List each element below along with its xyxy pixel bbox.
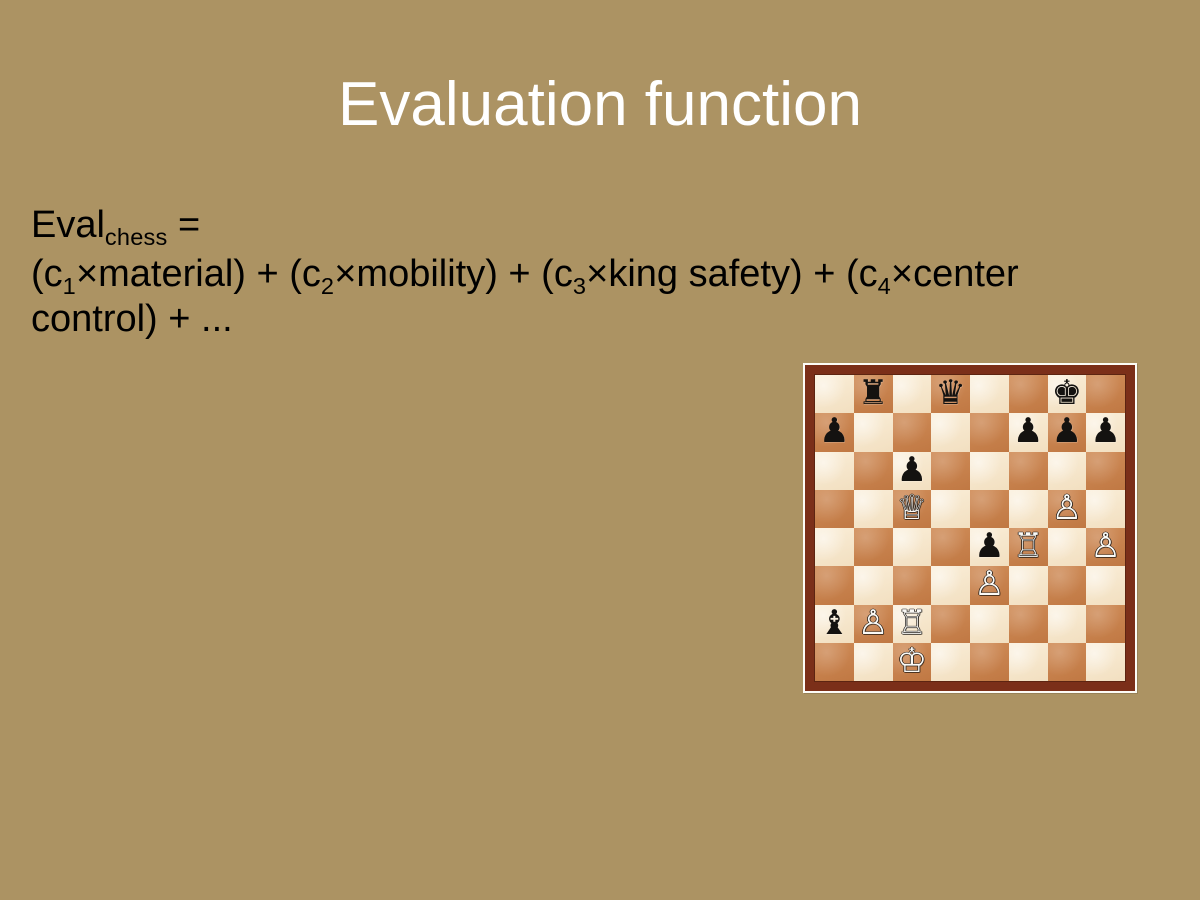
board-square-b4[interactable]	[854, 528, 893, 566]
board-square-e3[interactable]: ♙	[970, 566, 1009, 604]
board-square-h4[interactable]: ♙	[1086, 528, 1125, 566]
board-wood-frame: ♜♛♚♟♟♟♟♟♕♙♟♖♙♙♝♙♖♔	[805, 365, 1135, 691]
board-square-c5[interactable]: ♕	[893, 490, 932, 528]
chess-piece-h7[interactable]: ♟	[1090, 414, 1120, 448]
page-title: Evaluation function	[0, 72, 1200, 138]
board-square-d1[interactable]	[931, 643, 970, 681]
formula-line-terms: (c1×material) + (c2×mobility) + (c3×king…	[31, 252, 1096, 342]
board-square-b5[interactable]	[854, 490, 893, 528]
term1-open: (c	[31, 253, 63, 295]
board-square-g8[interactable]: ♚	[1048, 375, 1087, 413]
board-square-h1[interactable]	[1086, 643, 1125, 681]
board-square-d8[interactable]: ♛	[931, 375, 970, 413]
board-square-e1[interactable]	[970, 643, 1009, 681]
board-square-a3[interactable]	[815, 566, 854, 604]
chess-position-image: ♜♛♚♟♟♟♟♟♕♙♟♖♙♙♝♙♖♔	[803, 363, 1137, 693]
eval-prefix: Eval	[31, 204, 105, 246]
board-square-b7[interactable]	[854, 413, 893, 451]
board-square-a4[interactable]	[815, 528, 854, 566]
board-square-e5[interactable]	[970, 490, 1009, 528]
term3-close: ×king safety) + (c	[586, 253, 877, 295]
board-square-d7[interactable]	[931, 413, 970, 451]
board-square-f8[interactable]	[1009, 375, 1048, 413]
coefficient-4-subscript: 4	[878, 273, 891, 299]
chess-piece-a7[interactable]: ♟	[819, 414, 849, 448]
board-square-g4[interactable]	[1048, 528, 1087, 566]
board-square-b6[interactable]	[854, 452, 893, 490]
board-outer-border: ♜♛♚♟♟♟♟♟♕♙♟♖♙♙♝♙♖♔	[803, 363, 1137, 693]
board-square-g1[interactable]	[1048, 643, 1087, 681]
board-square-h5[interactable]	[1086, 490, 1125, 528]
board-square-d4[interactable]	[931, 528, 970, 566]
chess-board-grid: ♜♛♚♟♟♟♟♟♕♙♟♖♙♙♝♙♖♔	[815, 375, 1125, 681]
board-square-e2[interactable]	[970, 605, 1009, 643]
board-square-g7[interactable]: ♟	[1048, 413, 1087, 451]
board-square-h6[interactable]	[1086, 452, 1125, 490]
chess-piece-c6[interactable]: ♟	[897, 453, 927, 487]
board-square-g6[interactable]	[1048, 452, 1087, 490]
board-square-d2[interactable]	[931, 605, 970, 643]
body-content: Evalchess = (c1×material) + (c2×mobility…	[31, 203, 1096, 345]
board-square-d3[interactable]	[931, 566, 970, 604]
chess-piece-e4[interactable]: ♟	[974, 529, 1004, 563]
board-square-c6[interactable]: ♟	[893, 452, 932, 490]
board-square-f1[interactable]	[1009, 643, 1048, 681]
board-square-c8[interactable]	[893, 375, 932, 413]
board-square-f5[interactable]	[1009, 490, 1048, 528]
chess-piece-f4[interactable]: ♖	[1013, 529, 1043, 563]
board-square-g2[interactable]	[1048, 605, 1087, 643]
board-square-f3[interactable]	[1009, 566, 1048, 604]
term2-close: ×mobility) + (c	[334, 253, 573, 295]
chess-piece-e3[interactable]: ♙	[974, 567, 1004, 601]
formula-line-eval: Evalchess =	[31, 203, 1096, 248]
board-square-e8[interactable]	[970, 375, 1009, 413]
board-square-e6[interactable]	[970, 452, 1009, 490]
board-square-c2[interactable]: ♖	[893, 605, 932, 643]
chess-piece-a2[interactable]: ♝	[819, 606, 849, 640]
coefficient-2-subscript: 2	[321, 273, 334, 299]
board-square-a8[interactable]	[815, 375, 854, 413]
coefficient-3-subscript: 3	[573, 273, 586, 299]
chess-piece-g8[interactable]: ♚	[1052, 376, 1082, 410]
eval-equals: =	[167, 204, 200, 246]
board-square-b1[interactable]	[854, 643, 893, 681]
board-square-a1[interactable]	[815, 643, 854, 681]
chess-piece-c1[interactable]: ♔	[897, 644, 927, 678]
chess-piece-c2[interactable]: ♖	[897, 606, 927, 640]
board-square-e7[interactable]	[970, 413, 1009, 451]
coefficient-1-subscript: 1	[63, 273, 76, 299]
board-square-h2[interactable]	[1086, 605, 1125, 643]
board-square-h3[interactable]	[1086, 566, 1125, 604]
board-square-d5[interactable]	[931, 490, 970, 528]
chess-piece-b2[interactable]: ♙	[858, 606, 888, 640]
eval-subscript: chess	[105, 224, 168, 250]
board-square-a5[interactable]	[815, 490, 854, 528]
board-square-g3[interactable]	[1048, 566, 1087, 604]
chess-piece-d8[interactable]: ♛	[935, 376, 965, 410]
board-square-f6[interactable]	[1009, 452, 1048, 490]
board-square-f7[interactable]: ♟	[1009, 413, 1048, 451]
chess-piece-g5[interactable]: ♙	[1052, 491, 1082, 525]
board-square-f4[interactable]: ♖	[1009, 528, 1048, 566]
board-square-a6[interactable]	[815, 452, 854, 490]
presentation-slide: Evaluation function Evalchess = (c1×mate…	[0, 0, 1200, 900]
board-square-f2[interactable]	[1009, 605, 1048, 643]
board-square-c3[interactable]	[893, 566, 932, 604]
chess-piece-g7[interactable]: ♟	[1052, 414, 1082, 448]
board-square-h8[interactable]	[1086, 375, 1125, 413]
board-square-b3[interactable]	[854, 566, 893, 604]
board-square-g5[interactable]: ♙	[1048, 490, 1087, 528]
term1-close: ×material) + (c	[76, 253, 321, 295]
board-square-c4[interactable]	[893, 528, 932, 566]
board-square-b8[interactable]: ♜	[854, 375, 893, 413]
board-square-b2[interactable]: ♙	[854, 605, 893, 643]
board-square-h7[interactable]: ♟	[1086, 413, 1125, 451]
chess-piece-b8[interactable]: ♜	[858, 376, 888, 410]
chess-piece-h4[interactable]: ♙	[1090, 529, 1120, 563]
board-square-e4[interactable]: ♟	[970, 528, 1009, 566]
board-square-c7[interactable]	[893, 413, 932, 451]
chess-piece-c5[interactable]: ♕	[897, 491, 927, 525]
board-square-c1[interactable]: ♔	[893, 643, 932, 681]
chess-piece-f7[interactable]: ♟	[1013, 414, 1043, 448]
board-square-a7[interactable]: ♟	[815, 413, 854, 451]
board-square-a2[interactable]: ♝	[815, 605, 854, 643]
board-square-d6[interactable]	[931, 452, 970, 490]
